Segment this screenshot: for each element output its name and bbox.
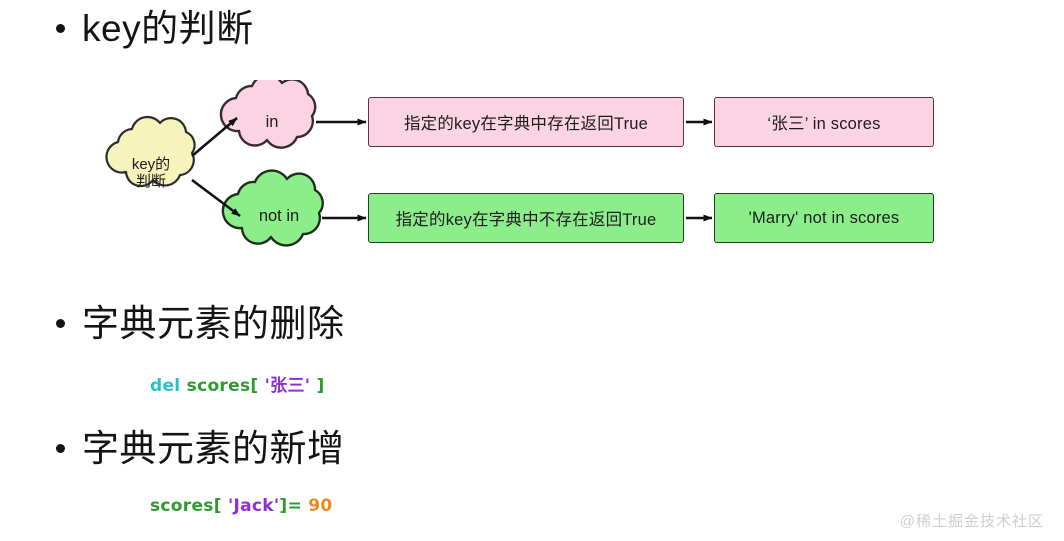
code-delete-statement: del scores[ '张三' ] bbox=[150, 371, 325, 396]
box-not-in-description: 指定的key在字典中不存在返回True bbox=[368, 193, 684, 243]
code-token-name-2: ]= bbox=[279, 496, 308, 516]
box-in-description: 指定的key在字典中存在返回True bbox=[368, 97, 684, 147]
code-assign-statement: scores[ 'Jack']= 90 bbox=[150, 496, 333, 516]
bullet-dot-icon bbox=[56, 444, 65, 453]
cloud-shape-not-in bbox=[223, 171, 323, 246]
cloud-shape-in bbox=[221, 80, 315, 148]
heading-dict-delete: 字典元素的删除 bbox=[56, 305, 345, 342]
heading-key-judgement-label: key的判断 bbox=[82, 10, 254, 47]
code-token-name-1: scores[ bbox=[180, 376, 264, 396]
key-judgement-flowchart: key的 判断 in not in 指定的key在字典中存在返回True ‘张三… bbox=[0, 80, 1064, 265]
code-token-name-3: ] bbox=[310, 376, 324, 396]
heading-dict-add-label: 字典元素的新增 bbox=[82, 430, 345, 467]
bullet-dot-icon bbox=[56, 319, 65, 328]
watermark: @稀土掘金技术社区 bbox=[900, 510, 1044, 531]
code-token-string-1: 'Jack' bbox=[228, 496, 279, 516]
arrow-root-to-in bbox=[192, 118, 237, 156]
heading-key-judgement: key的判断 bbox=[56, 10, 254, 47]
code-token-keyword-0: del bbox=[150, 376, 180, 396]
code-token-name-0: scores[ bbox=[150, 496, 228, 516]
box-not-in-example: 'Marry' not in scores bbox=[714, 193, 934, 243]
code-token-number-3: 90 bbox=[308, 496, 332, 516]
box-in-example: ‘张三’ in scores bbox=[714, 97, 934, 147]
code-token-string-2: '张三' bbox=[265, 376, 311, 396]
bullet-dot-icon bbox=[56, 24, 65, 33]
heading-dict-add: 字典元素的新增 bbox=[56, 430, 345, 467]
heading-dict-delete-label: 字典元素的删除 bbox=[82, 305, 345, 342]
cloud-shape-root bbox=[106, 117, 194, 186]
